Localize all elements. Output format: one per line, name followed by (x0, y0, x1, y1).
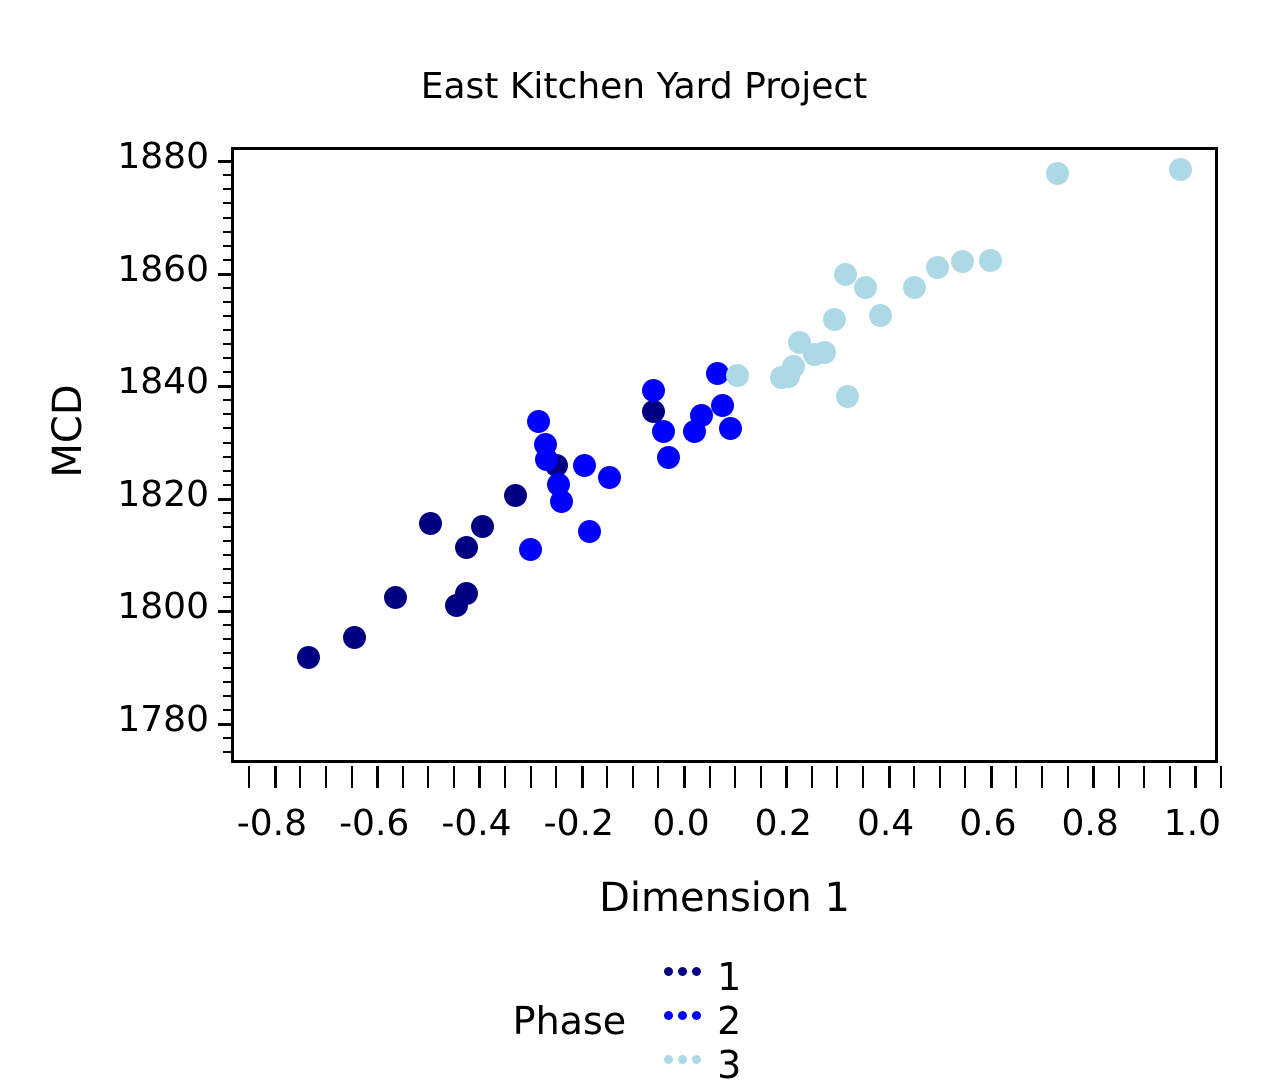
data-point (782, 355, 805, 378)
data-points-layer (234, 150, 1215, 760)
x-tick-minor (709, 766, 711, 788)
y-tick-minor (223, 371, 234, 373)
y-tick-minor (223, 427, 234, 429)
y-tick-minor (223, 217, 234, 219)
y-tick-minor (223, 751, 234, 753)
x-tick-minor (760, 766, 762, 788)
y-tick-label: 1840 (79, 364, 209, 400)
data-point (455, 582, 478, 605)
x-tick-minor (504, 766, 506, 788)
data-point (455, 536, 478, 559)
legend-label: 3 (717, 1043, 741, 1087)
y-tick-label: 1800 (79, 589, 209, 625)
y-tick-minor (223, 667, 234, 669)
x-tick-major (683, 766, 686, 788)
y-tick-minor (223, 568, 234, 570)
x-tick-minor (657, 766, 659, 788)
y-tick-major (218, 160, 234, 163)
y-tick-minor (223, 554, 234, 556)
x-tick-label: 1.0 (1127, 803, 1257, 844)
scatter-plot-figure: East Kitchen Yard Project MCD Dimension … (0, 0, 1288, 1040)
y-tick-minor (223, 231, 234, 233)
data-point (823, 308, 846, 331)
legend-entries: 123 (664, 955, 775, 1087)
plot-area (231, 147, 1218, 763)
x-tick-minor (555, 766, 557, 788)
data-point (642, 379, 665, 402)
data-point (578, 520, 601, 543)
x-tick-minor (913, 766, 915, 788)
data-point (419, 512, 442, 535)
y-tick-label: 1820 (79, 477, 209, 513)
x-tick-major (581, 766, 584, 788)
y-tick-minor (223, 329, 234, 331)
y-tick-minor (223, 638, 234, 640)
data-point (1046, 162, 1069, 185)
data-point (652, 420, 675, 443)
x-tick-major (1092, 766, 1095, 788)
data-point (854, 276, 877, 299)
x-tick-minor (1143, 766, 1145, 788)
y-tick-label: 1780 (79, 702, 209, 738)
y-tick-minor (223, 399, 234, 401)
y-tick-minor (223, 681, 234, 683)
x-tick-minor (939, 766, 941, 788)
y-tick-minor (223, 709, 234, 711)
y-tick-minor (223, 695, 234, 697)
y-tick-minor (223, 301, 234, 303)
x-tick-major (478, 766, 481, 788)
y-tick-minor (223, 652, 234, 654)
legend-title: Phase (513, 999, 626, 1043)
x-tick-minor (1041, 766, 1043, 788)
legend-entry-2[interactable]: 2 (664, 999, 741, 1043)
y-tick-minor (223, 596, 234, 598)
y-tick-major (218, 385, 234, 388)
x-tick-minor (632, 766, 634, 788)
y-tick-label: 1860 (79, 252, 209, 288)
y-tick-minor (223, 512, 234, 514)
y-tick-minor (223, 442, 234, 444)
data-point (926, 256, 949, 279)
y-tick-minor (223, 245, 234, 247)
x-tick-minor (427, 766, 429, 788)
legend-entry-3[interactable]: 3 (664, 1043, 775, 1087)
y-tick-minor (223, 174, 234, 176)
y-tick-minor (223, 582, 234, 584)
legend: Phase 123 (0, 955, 1288, 1087)
data-point (598, 466, 621, 489)
data-point (297, 646, 320, 669)
x-tick-minor (811, 766, 813, 788)
data-point (384, 586, 407, 609)
y-tick-minor (223, 456, 234, 458)
x-tick-minor (325, 766, 327, 788)
x-tick-minor (964, 766, 966, 788)
data-point (719, 417, 742, 440)
data-point (657, 446, 680, 469)
data-point (813, 341, 836, 364)
y-tick-major (218, 610, 234, 613)
y-tick-minor (223, 540, 234, 542)
x-tick-minor (862, 766, 864, 788)
y-tick-minor (223, 202, 234, 204)
data-point (1169, 158, 1192, 181)
x-tick-minor (1220, 766, 1222, 788)
y-tick-major (218, 273, 234, 276)
y-tick-minor (223, 188, 234, 190)
x-tick-minor (402, 766, 404, 788)
data-point (711, 394, 734, 417)
data-point (903, 276, 926, 299)
legend-marker-icon (664, 1055, 701, 1064)
data-point (343, 626, 366, 649)
x-tick-minor (530, 766, 532, 788)
y-tick-minor (223, 526, 234, 528)
data-point (690, 404, 713, 427)
y-tick-major (218, 723, 234, 726)
legend-marker-icon (664, 1011, 701, 1020)
y-tick-minor (223, 484, 234, 486)
x-tick-minor (734, 766, 736, 788)
data-point (519, 538, 542, 561)
chart-title: East Kitchen Yard Project (0, 66, 1288, 107)
x-tick-minor (836, 766, 838, 788)
x-tick-minor (351, 766, 353, 788)
y-tick-minor (223, 737, 234, 739)
x-tick-minor (1067, 766, 1069, 788)
y-tick-minor (223, 259, 234, 261)
y-tick-minor (223, 624, 234, 626)
x-tick-minor (248, 766, 250, 788)
y-tick-minor (223, 343, 234, 345)
y-tick-label: 1880 (79, 139, 209, 175)
x-tick-minor (1169, 766, 1171, 788)
y-tick-minor (223, 413, 234, 415)
data-point (834, 263, 857, 286)
data-point (869, 304, 892, 327)
x-axis-title: Dimension 1 (231, 875, 1218, 921)
x-tick-major (785, 766, 788, 788)
legend-marker-icon (664, 967, 701, 976)
data-point (573, 454, 596, 477)
x-tick-major (376, 766, 379, 788)
x-tick-minor (606, 766, 608, 788)
data-point (550, 490, 573, 513)
x-tick-minor (1015, 766, 1017, 788)
x-tick-major (888, 766, 891, 788)
y-tick-minor (223, 470, 234, 472)
x-tick-major (990, 766, 993, 788)
y-tick-major (218, 498, 234, 501)
legend-label: 2 (717, 999, 741, 1043)
data-point (527, 410, 550, 433)
data-point (979, 249, 1002, 272)
data-point (504, 484, 527, 507)
legend-label: 1 (717, 955, 741, 999)
y-tick-minor (223, 357, 234, 359)
legend-entry-1[interactable]: 1 (664, 955, 741, 999)
data-point (836, 385, 859, 408)
data-point (726, 364, 749, 387)
data-point (471, 515, 494, 538)
data-point (951, 250, 974, 273)
y-tick-minor (223, 287, 234, 289)
x-tick-minor (299, 766, 301, 788)
x-tick-major (274, 766, 277, 788)
x-tick-major (1194, 766, 1197, 788)
x-tick-minor (453, 766, 455, 788)
y-tick-minor (223, 315, 234, 317)
x-tick-minor (1118, 766, 1120, 788)
